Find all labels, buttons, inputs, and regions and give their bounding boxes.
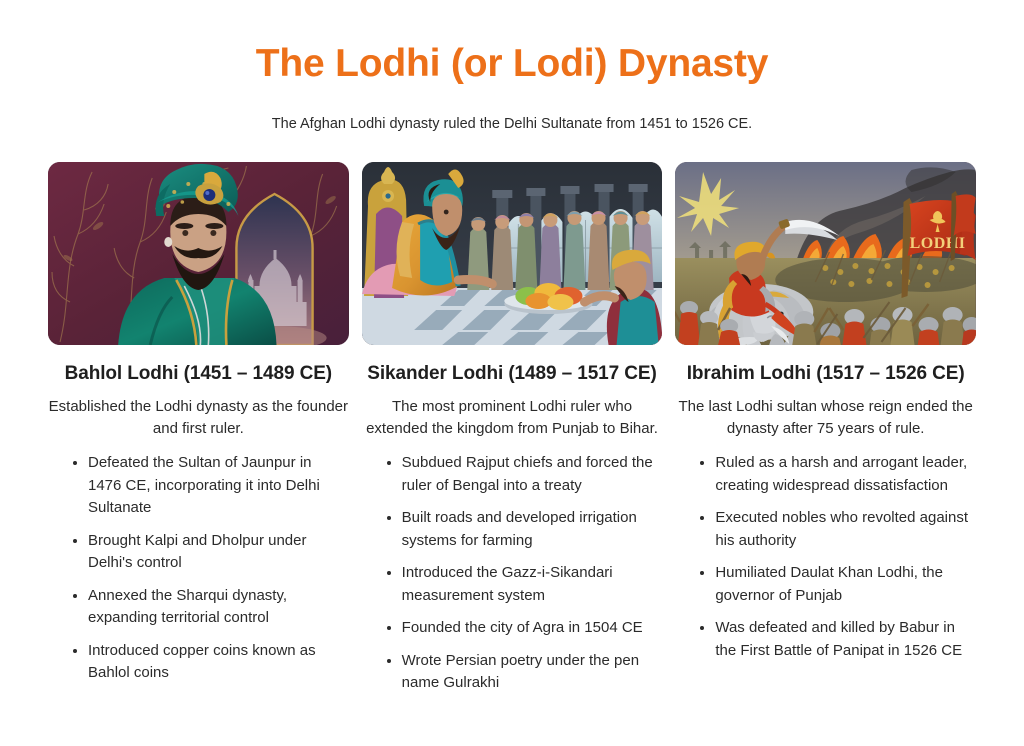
ruler-columns: Bahlol Lodhi (1451 – 1489 CE) Establishe… — [48, 162, 976, 705]
list-item: Introduced copper coins known as Bahlol … — [73, 640, 349, 685]
infographic-page: The Lodhi (or Lodi) Dynasty The Afghan L… — [0, 0, 1024, 746]
page-subtitle: The Afghan Lodhi dynasty ruled the Delhi… — [48, 86, 976, 135]
ruler-name: Ibrahim Lodhi (1517 – 1526 CE) — [675, 345, 976, 386]
ruler-card-ibrahim-lodhi: LODHI — [675, 162, 976, 672]
bahlol-lodhi-portrait — [48, 162, 349, 345]
ruler-fact-list: Defeated the Sultan of Jaunpur in 1476 C… — [48, 452, 349, 685]
list-item: Wrote Persian poetry under the pen name … — [387, 650, 663, 695]
ibrahim-lodhi-battle-scene: LODHI — [675, 162, 976, 345]
ruler-fact-list: Ruled as a harsh and arrogant leader, cr… — [675, 452, 976, 662]
list-item: Annexed the Sharqui dynasty, expanding t… — [73, 585, 349, 630]
ruler-intro: The most prominent Lodhi ruler who exten… — [362, 386, 663, 440]
list-item: Defeated the Sultan of Jaunpur in 1476 C… — [73, 452, 349, 520]
ruler-name: Bahlol Lodhi (1451 – 1489 CE) — [48, 345, 349, 386]
list-item: Subdued Rajput chiefs and forced the rul… — [387, 452, 663, 497]
ruler-card-bahlol-lodhi: Bahlol Lodhi (1451 – 1489 CE) Establishe… — [48, 162, 349, 695]
list-item: Humiliated Daulat Khan Lodhi, the govern… — [700, 562, 976, 607]
list-item: Brought Kalpi and Dholpur under Delhi's … — [73, 530, 349, 575]
list-item: Introduced the Gazz-i-Sikandari measurem… — [387, 562, 663, 607]
ruler-card-sikander-lodhi: Sikander Lodhi (1489 – 1517 CE) The most… — [362, 162, 663, 705]
list-item: Built roads and developed irrigation sys… — [387, 507, 663, 552]
svg-text:LODHI: LODHI — [910, 235, 966, 252]
list-item: Ruled as a harsh and arrogant leader, cr… — [700, 452, 976, 497]
sikander-lodhi-court-scene — [362, 162, 663, 345]
list-item: Was defeated and killed by Babur in the … — [700, 617, 976, 662]
ruler-intro: Established the Lodhi dynasty as the fou… — [48, 386, 349, 440]
list-item: Founded the city of Agra in 1504 CE — [387, 617, 663, 640]
ruler-intro: The last Lodhi sultan whose reign ended … — [675, 386, 976, 440]
ruler-fact-list: Subdued Rajput chiefs and forced the rul… — [362, 452, 663, 695]
ruler-name: Sikander Lodhi (1489 – 1517 CE) — [362, 345, 663, 386]
list-item: Executed nobles who revolted against his… — [700, 507, 976, 552]
page-title: The Lodhi (or Lodi) Dynasty — [48, 0, 976, 86]
